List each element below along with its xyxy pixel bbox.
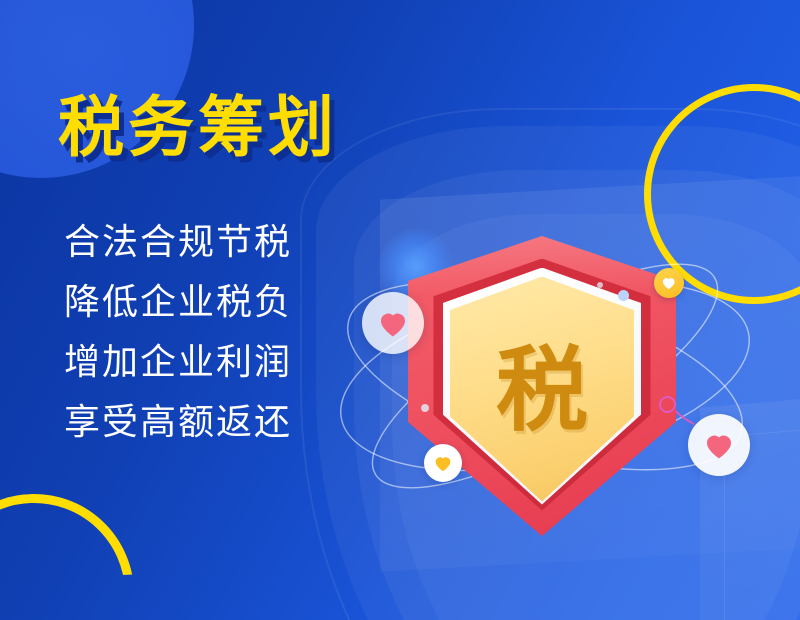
heart-icon [432,452,454,474]
heart-badge-bottom-left [424,444,462,482]
list-item: 合法合规节税 [64,225,388,261]
orbit-dot-1 [618,290,629,301]
heart-icon [660,274,677,291]
benefits-list: 合法合规节税 降低企业税负 增加企业利润 享受高额返还 [64,225,388,441]
page-title: 税务筹划 [58,92,388,163]
list-item: 增加企业利润 [64,345,388,381]
heart-icon [701,427,737,463]
orbit-dot-2 [597,282,603,288]
text-content-block: 税务筹划 合法合规节税 降低企业税负 增加企业利润 享受高额返还 [58,92,388,441]
list-item: 享受高额返还 [64,405,388,441]
yellow-arc-bottom-left-shape [0,491,137,620]
magenta-ring-dot [659,396,676,413]
list-item: 降低企业税负 [64,285,388,321]
heart-badge-top-right [654,268,684,298]
shield-tax-character: 税 [496,345,588,437]
orbit-dot-3 [421,404,429,412]
heart-badge-right [688,414,750,476]
tax-shield-graphic: 税 [408,236,676,536]
tax-planning-banner: 税 税务筹划 合法合规节税 降低企业税负 增加企业利润 享受高额返还 [0,0,800,620]
